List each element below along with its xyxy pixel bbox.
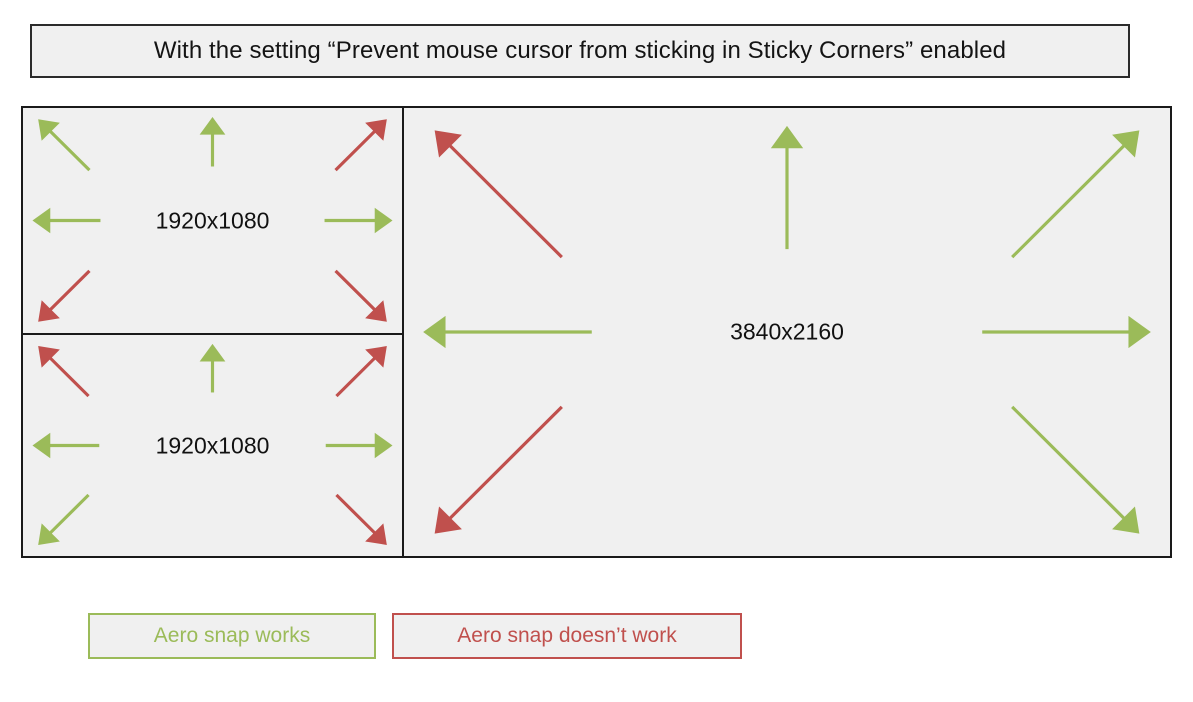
legend: Aero snap works Aero snap doesn’t work: [88, 613, 742, 659]
page-title: With the setting “Prevent mouse cursor f…: [154, 37, 1006, 65]
monitor-arrangement: 1920x1080 1920x1080 3840x2160: [21, 106, 1172, 558]
monitor-label-bottom-left: 1920x1080: [156, 432, 270, 459]
legend-label-works: Aero snap works: [154, 624, 310, 648]
arrow-layer-top-left: [23, 108, 402, 333]
arrow-layer-bottom-left: [23, 335, 402, 556]
monitor-label-right: 3840x2160: [730, 319, 844, 346]
monitor-bottom-left: 1920x1080: [21, 333, 404, 558]
monitor-right: 3840x2160: [402, 106, 1172, 558]
monitor-top-left: 1920x1080: [21, 106, 404, 335]
diagram-root: With the setting “Prevent mouse cursor f…: [0, 0, 1193, 702]
legend-item-works: Aero snap works: [88, 613, 376, 659]
title-banner: With the setting “Prevent mouse cursor f…: [30, 24, 1130, 78]
legend-label-broken: Aero snap doesn’t work: [457, 624, 676, 648]
arrow-layer-right: [404, 108, 1170, 556]
legend-item-broken: Aero snap doesn’t work: [392, 613, 742, 659]
monitor-label-top-left: 1920x1080: [156, 207, 270, 234]
